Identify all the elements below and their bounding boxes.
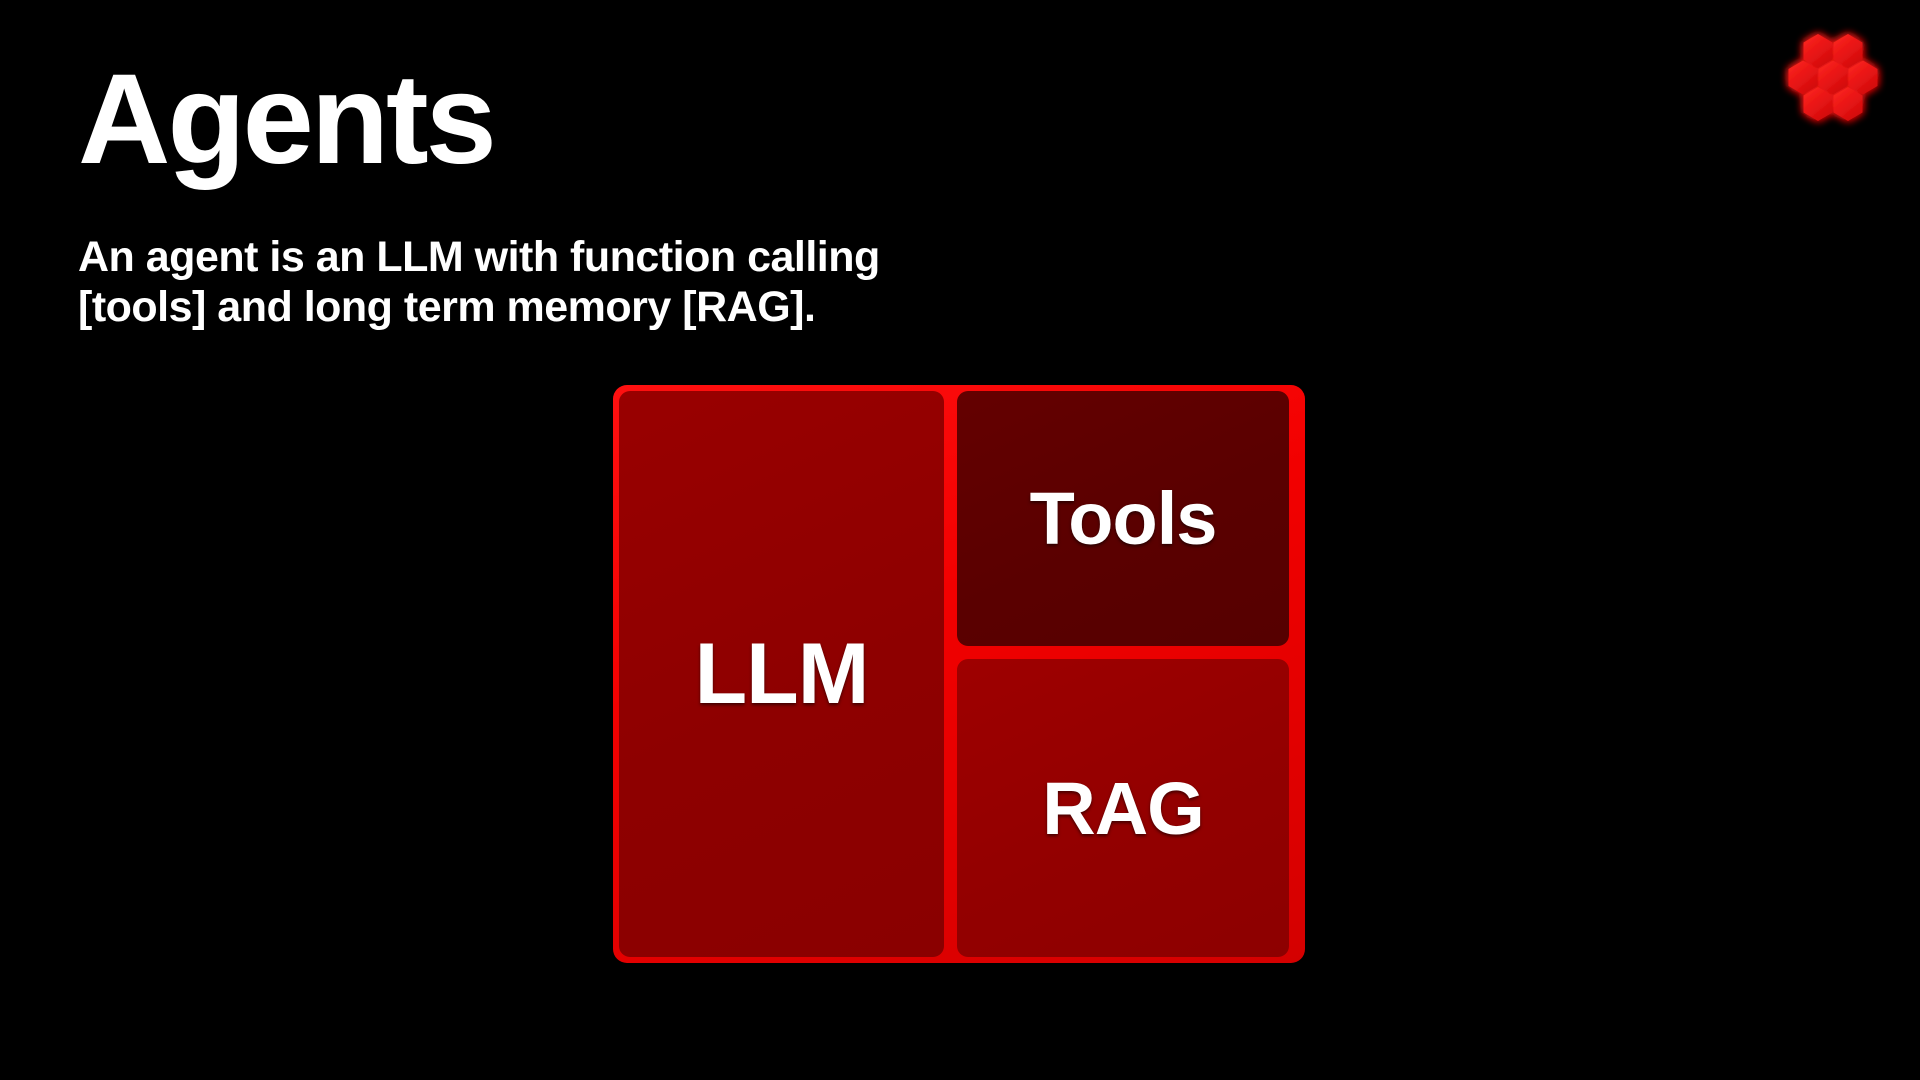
slide-subtitle: An agent is an LLM with function calling… [78,232,880,333]
diagram-panel-llm-label: LLM [695,625,869,724]
diagram-panel-tools: Tools [957,391,1289,646]
agent-architecture-diagram: LLM Tools RAG [613,385,1305,963]
slide-canvas: Agents An agent is an LLM with function … [0,0,1920,1080]
page-title: Agents [78,50,494,191]
diagram-panel-rag: RAG [957,659,1289,957]
diagram-right-column: Tools RAG [957,391,1299,957]
diagram-panel-llm: LLM [619,391,944,957]
hexagon-honeycomb-logo [1775,22,1891,140]
diagram-panel-tools-label: Tools [1030,476,1217,561]
diagram-panel-rag-label: RAG [1042,766,1203,851]
